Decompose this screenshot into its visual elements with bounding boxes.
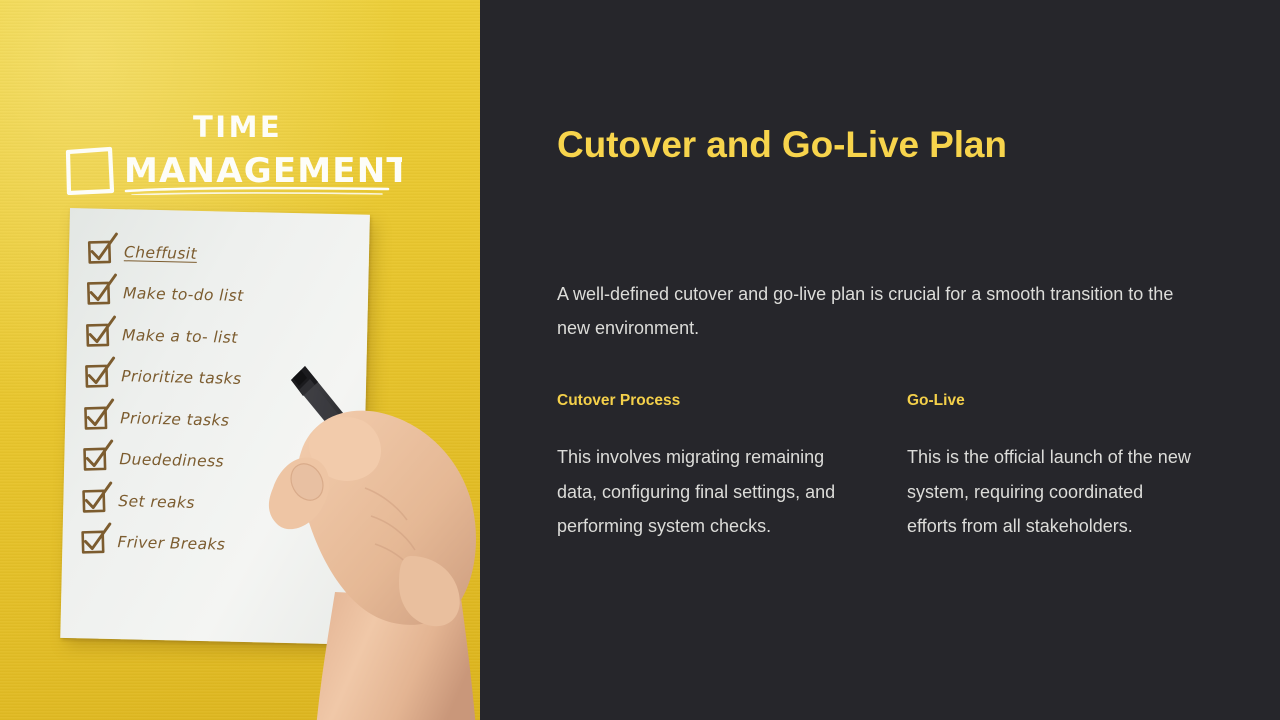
list-item-label: Set reaks xyxy=(118,492,195,512)
list-item-label: Make a to- list xyxy=(122,326,238,347)
time-management-heading: TIME MANAGEMENT xyxy=(62,103,402,195)
checked-box-icon xyxy=(86,281,111,306)
checked-box-icon xyxy=(84,364,109,389)
list-item[interactable]: Make a to- list xyxy=(85,313,368,361)
checked-box-icon xyxy=(80,530,105,555)
list-item-label: Cheffusit xyxy=(124,243,197,263)
column-go-live: Go-Live This is the official launch of t… xyxy=(907,392,1217,544)
list-item[interactable]: Make to-do list xyxy=(86,272,369,320)
intro-paragraph: A well-defined cutover and go-live plan … xyxy=(557,277,1202,345)
heading-underline-icon xyxy=(126,188,388,195)
checked-box-icon xyxy=(83,405,108,430)
heading-line1: TIME xyxy=(193,110,282,144)
list-item-label: Make to-do list xyxy=(123,284,244,305)
page-title: Cutover and Go-Live Plan xyxy=(557,124,1007,166)
list-item[interactable]: Cheffusit xyxy=(87,230,370,278)
hand-with-pencil xyxy=(215,360,480,720)
list-item-label: Priorize tasks xyxy=(120,409,229,429)
column-cutover-process: Cutover Process This involves migrating … xyxy=(557,392,907,544)
columns-container: Cutover Process This involves migrating … xyxy=(557,392,1217,544)
checked-box-icon xyxy=(82,447,107,472)
list-item-label: Duedediness xyxy=(119,450,224,470)
empty-checkbox-icon xyxy=(68,149,112,193)
slide: TIME MANAGEMENT xyxy=(0,0,1280,720)
checked-box-icon xyxy=(87,239,112,264)
column-heading: Cutover Process xyxy=(557,392,907,410)
heading-line2: MANAGEMENT xyxy=(124,151,402,191)
column-body: This is the official launch of the new s… xyxy=(907,440,1197,544)
checked-box-icon xyxy=(81,488,106,513)
list-item-label: Friver Breaks xyxy=(117,533,225,553)
checked-box-icon xyxy=(85,322,110,347)
column-heading: Go-Live xyxy=(907,392,1217,410)
content-panel: Cutover and Go-Live Plan A well-defined … xyxy=(480,0,1280,720)
column-body: This involves migrating remaining data, … xyxy=(557,440,847,544)
illustration-panel: TIME MANAGEMENT xyxy=(0,0,480,720)
